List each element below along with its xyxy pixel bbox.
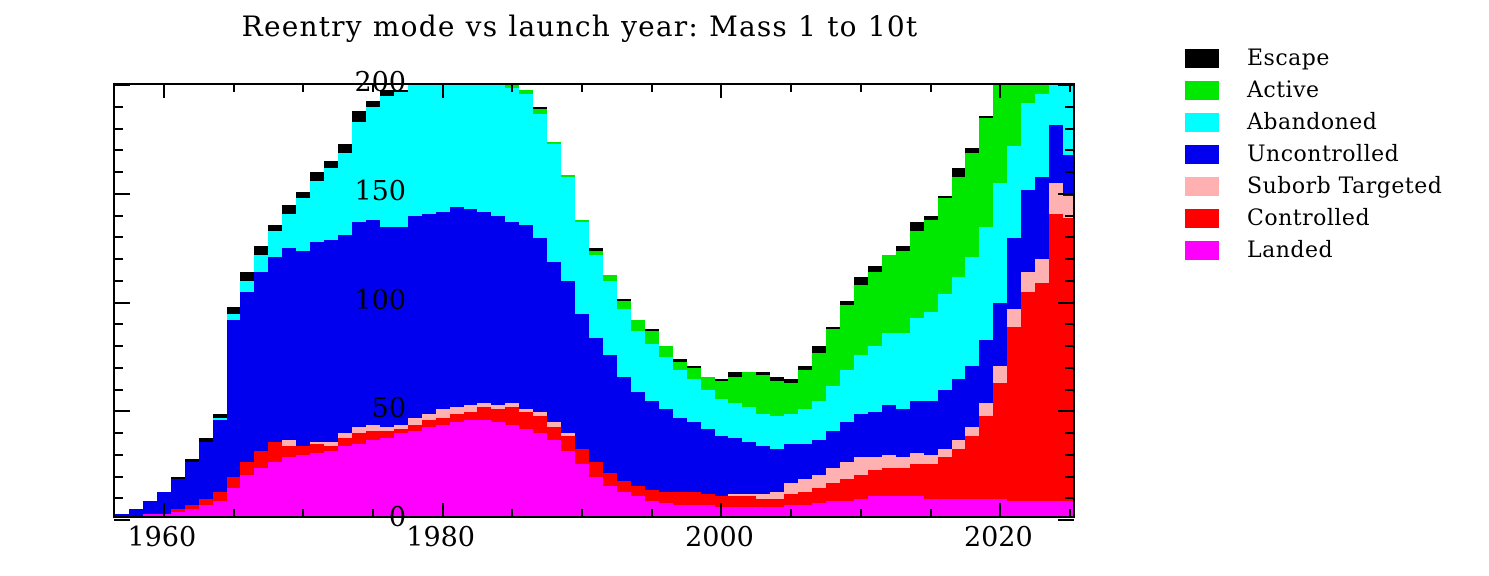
- bar-column: [227, 85, 241, 516]
- bar-segment-abandoned: [812, 401, 826, 440]
- bar-segment-landed: [296, 455, 310, 516]
- bar-segment-escape: [979, 116, 993, 118]
- bar-segment-uncontrolled: [185, 462, 199, 506]
- bar-segment-controlled: [561, 436, 575, 451]
- bar-segment-uncontrolled: [491, 216, 505, 405]
- bar-segment-escape: [296, 192, 310, 199]
- bar-segment-suborb-targeted: [394, 425, 408, 429]
- plot-area: [115, 85, 1073, 516]
- bar-column: [171, 85, 185, 516]
- bar-segment-controlled: [464, 412, 478, 421]
- bar-segment-controlled: [728, 496, 742, 507]
- bar-segment-active: [840, 305, 854, 370]
- bar-segment-controlled: [338, 438, 352, 447]
- bar-segment-landed: [756, 507, 770, 516]
- x-tick-label: 1960: [127, 524, 196, 551]
- bar-segment-controlled: [547, 427, 561, 440]
- plot-frame: [113, 83, 1075, 518]
- bar-segment-abandoned: [798, 409, 812, 444]
- bar-segment-landed: [1007, 501, 1021, 516]
- bar-segment-suborb-targeted: [477, 403, 491, 407]
- x-axis-tick: [581, 84, 583, 92]
- bar-column: [464, 85, 478, 516]
- bar-segment-controlled: [798, 492, 812, 505]
- bar-segment-controlled: [296, 446, 310, 455]
- bar-segment-controlled: [701, 494, 715, 505]
- bar-column: [965, 85, 979, 516]
- bar-segment-uncontrolled: [282, 248, 296, 439]
- x-axis-tick: [930, 509, 932, 517]
- x-axis-tick: [860, 509, 862, 517]
- legend-swatch-icon: [1185, 49, 1219, 68]
- bar-segment-uncontrolled: [882, 405, 896, 455]
- bar-segment-escape: [240, 272, 254, 281]
- bar-segment-landed: [798, 505, 812, 516]
- legend-label: Uncontrolled: [1247, 142, 1399, 167]
- bar-segment-landed: [505, 425, 519, 516]
- bar-segment-abandoned: [547, 144, 561, 261]
- y-axis-tick: [1065, 432, 1074, 434]
- bar-segment-suborb-targeted: [952, 440, 966, 449]
- bar-segment-escape: [854, 277, 868, 286]
- bar-segment-landed: [408, 431, 422, 516]
- bar-segment-abandoned: [436, 85, 450, 212]
- bar-segment-suborb-targeted: [770, 492, 784, 499]
- bar-column: [742, 85, 756, 516]
- bar-column: [589, 85, 603, 516]
- legend-swatch-icon: [1185, 241, 1219, 260]
- y-axis-tick: [1065, 476, 1074, 478]
- x-axis-tick: [233, 509, 235, 517]
- bar-segment-suborb-targeted: [938, 449, 952, 458]
- y-axis-tick: [1065, 149, 1074, 151]
- y-axis-tick: [114, 497, 123, 499]
- bar-segment-escape: [254, 246, 268, 255]
- bar-segment-controlled: [910, 464, 924, 497]
- bar-segment-escape: [798, 366, 812, 370]
- y-axis-tick: [114, 367, 123, 369]
- bar-segment-landed: [896, 496, 910, 516]
- bar-segment-active: [882, 255, 896, 333]
- x-axis-tick: [163, 84, 165, 98]
- bar-segment-landed: [450, 422, 464, 516]
- bar-segment-suborb-targeted: [422, 414, 436, 421]
- bar-segment-landed: [659, 503, 673, 516]
- bar-segment-active: [519, 90, 533, 94]
- bar-segment-escape: [352, 111, 366, 122]
- bar-segment-uncontrolled: [617, 377, 631, 481]
- bar-segment-active: [687, 368, 701, 379]
- y-axis-tick: [1058, 519, 1074, 521]
- bar-segment-active: [854, 285, 868, 355]
- legend-label: Escape: [1247, 46, 1330, 71]
- bar-segment-active: [812, 353, 826, 401]
- bar-segment-controlled: [254, 451, 268, 468]
- chart-legend: EscapeActiveAbandonedUncontrolledSuborb …: [1185, 42, 1485, 266]
- bar-segment-escape: [728, 372, 742, 376]
- y-axis-tick: [1065, 215, 1074, 217]
- bar-column: [659, 85, 673, 516]
- bar-segment-abandoned: [1035, 94, 1049, 177]
- bar-segment-uncontrolled: [603, 355, 617, 472]
- bar-segment-suborb-targeted: [965, 427, 979, 436]
- bar-segment-abandoned: [533, 114, 547, 238]
- bar-column: [547, 85, 561, 516]
- legend-item-suborb-targeted[interactable]: Suborb Targeted: [1185, 170, 1485, 202]
- bar-column: [491, 85, 505, 516]
- bar-segment-escape: [617, 299, 631, 301]
- x-axis-tick: [930, 84, 932, 92]
- bar-segment-suborb-targeted: [491, 405, 505, 409]
- bar-segment-active: [575, 220, 589, 222]
- bar-segment-suborb-targeted: [993, 366, 1007, 383]
- bar-segment-suborb-targeted: [896, 457, 910, 468]
- bar-column: [701, 85, 715, 516]
- bar-segment-uncontrolled: [854, 414, 868, 458]
- bar-segment-landed: [952, 499, 966, 516]
- bar-segment-controlled: [1049, 214, 1063, 501]
- bar-column: [213, 85, 227, 516]
- bar-segment-suborb-targeted: [282, 440, 296, 447]
- bar-segment-landed: [673, 505, 687, 516]
- x-axis-tick: [511, 509, 513, 517]
- bar-column: [854, 85, 868, 516]
- bar-segment-active: [770, 381, 784, 416]
- bar-column: [770, 85, 784, 516]
- bar-segment-abandoned: [491, 85, 505, 216]
- bar-segment-uncontrolled: [408, 216, 422, 418]
- legend-item-uncontrolled[interactable]: Uncontrolled: [1185, 138, 1485, 170]
- bar-segment-uncontrolled: [254, 272, 268, 450]
- bar-segment-abandoned: [756, 414, 770, 447]
- bar-segment-uncontrolled: [519, 225, 533, 410]
- bar-segment-abandoned: [924, 312, 938, 401]
- bar-segment-abandoned: [1063, 85, 1073, 155]
- bar-segment-controlled: [756, 499, 770, 508]
- bar-segment-landed: [477, 420, 491, 516]
- bar-segment-controlled: [394, 429, 408, 433]
- bar-column: [993, 85, 1007, 516]
- bar-segment-active: [993, 85, 1007, 183]
- bar-segment-abandoned: [826, 386, 840, 432]
- bar-segment-controlled: [673, 492, 687, 505]
- y-axis-tick: [114, 519, 130, 521]
- bar-segment-controlled: [436, 418, 450, 425]
- bar-column: [868, 85, 882, 516]
- bar-segment-controlled: [645, 490, 659, 501]
- x-axis-tick: [372, 509, 374, 517]
- y-axis-tick: [114, 106, 123, 108]
- x-axis-tick: [651, 509, 653, 517]
- bar-segment-landed: [826, 501, 840, 516]
- bar-segment-landed: [519, 429, 533, 516]
- bar-segment-active: [784, 383, 798, 413]
- bar-column: [924, 85, 938, 516]
- y-axis-tick: [114, 149, 123, 151]
- bar-segment-uncontrolled: [1049, 125, 1063, 184]
- bar-segment-controlled: [227, 477, 241, 488]
- bar-column: [896, 85, 910, 516]
- bar-segment-abandoned: [1049, 85, 1063, 125]
- bar-segment-landed: [171, 512, 185, 516]
- bar-segment-controlled: [854, 475, 868, 499]
- bar-segment-controlled: [979, 416, 993, 499]
- bar-segment-controlled: [352, 433, 366, 444]
- bar-segment-abandoned: [784, 414, 798, 444]
- bar-segment-landed: [687, 505, 701, 516]
- bar-segment-controlled: [366, 431, 380, 440]
- bar-segment-active: [924, 220, 938, 311]
- bar-segment-abandoned: [603, 281, 617, 355]
- bar-segment-controlled: [240, 462, 254, 475]
- bar-segment-suborb-targeted: [1049, 183, 1063, 213]
- bar-segment-uncontrolled: [659, 409, 673, 492]
- bar-segment-landed: [324, 451, 338, 516]
- legend-swatch-icon: [1185, 177, 1219, 196]
- x-axis-tick: [720, 84, 722, 98]
- legend-item-escape[interactable]: Escape: [1185, 42, 1485, 74]
- bar-segment-landed: [268, 462, 282, 516]
- bar-segment-active: [715, 381, 729, 398]
- legend-item-abandoned[interactable]: Abandoned: [1185, 106, 1485, 138]
- y-axis-tick: [1058, 84, 1074, 86]
- bar-segment-suborb-targeted: [1035, 259, 1049, 283]
- bar-segment-landed: [1049, 501, 1063, 516]
- bar-segment-suborb-targeted: [519, 409, 533, 411]
- y-axis-tick: [1065, 171, 1074, 173]
- bar-segment-active: [938, 198, 952, 294]
- x-axis-tick: [720, 503, 722, 517]
- bar-segment-escape: [770, 377, 784, 381]
- bar-segment-controlled: [896, 468, 910, 496]
- bar-column: [129, 85, 143, 516]
- bar-segment-escape: [185, 459, 199, 461]
- bar-column: [199, 85, 213, 516]
- bar-segment-abandoned: [840, 370, 854, 422]
- bar-segment-abandoned: [282, 214, 296, 249]
- x-axis-tick: [790, 509, 792, 517]
- legend-label: Active: [1247, 78, 1320, 103]
- bar-segment-controlled: [617, 481, 631, 492]
- bar-segment-suborb-targeted: [408, 418, 422, 425]
- bar-segment-landed: [310, 453, 324, 516]
- bar-segment-controlled: [450, 414, 464, 423]
- x-tick-label: 2000: [685, 524, 754, 551]
- bar-column: [728, 85, 742, 516]
- y-axis-tick: [1058, 410, 1074, 412]
- bar-segment-landed: [979, 499, 993, 516]
- bar-segment-suborb-targeted: [561, 433, 575, 435]
- bar-segment-abandoned: [896, 333, 910, 409]
- x-axis-tick: [999, 84, 1001, 98]
- bar-segment-abandoned: [240, 281, 254, 292]
- bar-segment-landed: [422, 427, 436, 516]
- x-axis-tick: [860, 84, 862, 92]
- y-axis-tick: [1065, 497, 1074, 499]
- bar-segment-suborb-targeted: [798, 479, 812, 492]
- bar-column: [338, 85, 352, 516]
- bar-segment-landed: [728, 507, 742, 516]
- bar-segment-landed: [882, 496, 896, 516]
- bar-segment-landed: [213, 501, 227, 516]
- bar-segment-abandoned: [589, 255, 603, 338]
- bar-segment-escape: [533, 107, 547, 109]
- bar-segment-landed: [533, 433, 547, 516]
- bar-segment-abandoned: [742, 407, 756, 442]
- bar-segment-landed: [812, 503, 826, 516]
- bar-segment-active: [617, 301, 631, 310]
- x-axis-tick: [651, 84, 653, 92]
- y-axis-tick: [114, 454, 123, 456]
- bar-segment-escape: [924, 216, 938, 220]
- y-axis-tick: [1065, 454, 1074, 456]
- bar-segment-controlled: [310, 444, 324, 453]
- bar-segment-suborb-targeted: [756, 494, 770, 498]
- bar-segment-uncontrolled: [477, 212, 491, 403]
- bar-segment-abandoned: [993, 183, 1007, 303]
- bar-column: [645, 85, 659, 516]
- legend-item-active[interactable]: Active: [1185, 74, 1485, 106]
- x-axis-tick: [442, 84, 444, 98]
- bar-segment-uncontrolled: [1007, 238, 1021, 310]
- bar-segment-suborb-targeted: [784, 483, 798, 494]
- x-axis-tick: [790, 84, 792, 92]
- bar-segment-landed: [938, 499, 952, 516]
- bar-column: [296, 85, 310, 516]
- bar-column: [519, 85, 533, 516]
- bar-column: [882, 85, 896, 516]
- y-tick-label: 100: [354, 287, 406, 314]
- bar-column: [505, 85, 519, 516]
- bar-segment-controlled: [938, 457, 952, 498]
- bar-segment-controlled: [533, 416, 547, 433]
- bar-segment-landed: [561, 451, 575, 516]
- x-axis-tick: [1069, 84, 1071, 92]
- bar-segment-suborb-targeted: [1021, 272, 1035, 292]
- bar-segment-controlled: [687, 492, 701, 505]
- bar-segment-uncontrolled: [324, 240, 338, 442]
- bar-segment-abandoned: [938, 294, 952, 390]
- bar-segment-suborb-targeted: [380, 427, 394, 431]
- bar-segment-uncontrolled: [561, 281, 575, 433]
- x-axis-tick: [581, 509, 583, 517]
- bar-segment-escape: [756, 372, 770, 374]
- y-axis-tick: [1065, 367, 1074, 369]
- bar-segment-abandoned: [422, 85, 436, 214]
- bar-segment-uncontrolled: [673, 418, 687, 492]
- bar-segment-abandoned: [519, 94, 533, 225]
- legend-item-controlled[interactable]: Controlled: [1185, 202, 1485, 234]
- bar-segment-uncontrolled: [756, 446, 770, 494]
- bar-segment-active: [673, 362, 687, 371]
- bar-segment-abandoned: [324, 168, 338, 240]
- bar-segment-controlled: [268, 442, 282, 462]
- bar-segment-landed: [199, 505, 213, 516]
- bar-column: [1049, 85, 1063, 516]
- bar-column: [436, 85, 450, 516]
- bar-segment-escape: [199, 438, 213, 442]
- bar-segment-suborb-targeted: [366, 425, 380, 432]
- bar-segment-controlled: [408, 425, 422, 432]
- bar-segment-controlled: [993, 383, 1007, 498]
- x-axis-tick: [163, 503, 165, 517]
- bar-segment-suborb-targeted: [812, 475, 826, 488]
- bar-column: [157, 85, 171, 516]
- bar-column: [282, 85, 296, 516]
- y-axis-tick: [114, 410, 130, 412]
- bar-segment-escape: [673, 359, 687, 361]
- legend-item-landed[interactable]: Landed: [1185, 234, 1485, 266]
- bar-segment-controlled: [603, 473, 617, 486]
- bar-segment-escape: [310, 172, 324, 181]
- bar-segment-landed: [143, 514, 157, 516]
- bar-segment-suborb-targeted: [352, 427, 366, 434]
- bar-segment-controlled: [505, 407, 519, 424]
- bar-segment-escape: [338, 144, 352, 153]
- y-axis-tick: [1065, 345, 1074, 347]
- bar-segment-controlled: [1063, 218, 1073, 501]
- bar-segment-uncontrolled: [213, 420, 227, 492]
- bar-segment-controlled: [784, 494, 798, 505]
- x-axis-tick: [999, 503, 1001, 517]
- bar-segment-controlled: [631, 486, 645, 497]
- bar-segment-uncontrolled: [868, 412, 882, 458]
- bar-segment-controlled: [185, 505, 199, 509]
- bar-segment-escape: [282, 205, 296, 214]
- bar-segment-uncontrolled: [1063, 155, 1073, 196]
- bar-segment-active: [547, 142, 561, 144]
- bar-segment-suborb-targeted: [924, 455, 938, 464]
- bar-segment-active: [742, 372, 756, 407]
- bar-segment-uncontrolled: [422, 214, 436, 414]
- y-axis-tick: [1065, 106, 1074, 108]
- bar-segment-abandoned: [965, 257, 979, 366]
- bar-segment-landed: [603, 486, 617, 516]
- bar-segment-landed: [282, 457, 296, 516]
- legend-label: Controlled: [1247, 206, 1370, 231]
- bar-segment-controlled: [924, 464, 938, 499]
- bar-segment-landed: [185, 509, 199, 516]
- bar-segment-controlled: [282, 446, 296, 457]
- bar-segment-landed: [240, 475, 254, 516]
- y-axis-tick: [1065, 128, 1074, 130]
- bar-segment-abandoned: [617, 309, 631, 376]
- bar-segment-uncontrolled: [533, 238, 547, 412]
- bar-segment-abandoned: [254, 255, 268, 272]
- bar-segment-landed: [338, 446, 352, 516]
- bar-segment-landed: [840, 501, 854, 516]
- legend-swatch-icon: [1185, 145, 1219, 164]
- bar-segment-landed: [770, 507, 784, 516]
- bar-segment-abandoned: [338, 153, 352, 236]
- bar-segment-suborb-targeted: [324, 442, 338, 446]
- bar-segment-active: [728, 377, 742, 403]
- bar-segment-suborb-targeted: [882, 455, 896, 468]
- bar-segment-active: [561, 175, 575, 177]
- y-tick-label: 0: [389, 504, 406, 531]
- bar-segment-abandoned: [268, 231, 282, 257]
- y-axis-tick: [1065, 280, 1074, 282]
- bar-segment-controlled: [199, 499, 213, 506]
- y-axis-tick: [114, 323, 123, 325]
- bar-segment-uncontrolled: [715, 436, 729, 497]
- bar-segment-escape: [227, 307, 241, 314]
- bar-segment-escape: [896, 246, 910, 250]
- bar-segment-uncontrolled: [910, 401, 924, 453]
- bar-segment-suborb-targeted: [436, 409, 450, 418]
- bar-segment-suborb-targeted: [910, 453, 924, 464]
- legend-swatch-icon: [1185, 113, 1219, 132]
